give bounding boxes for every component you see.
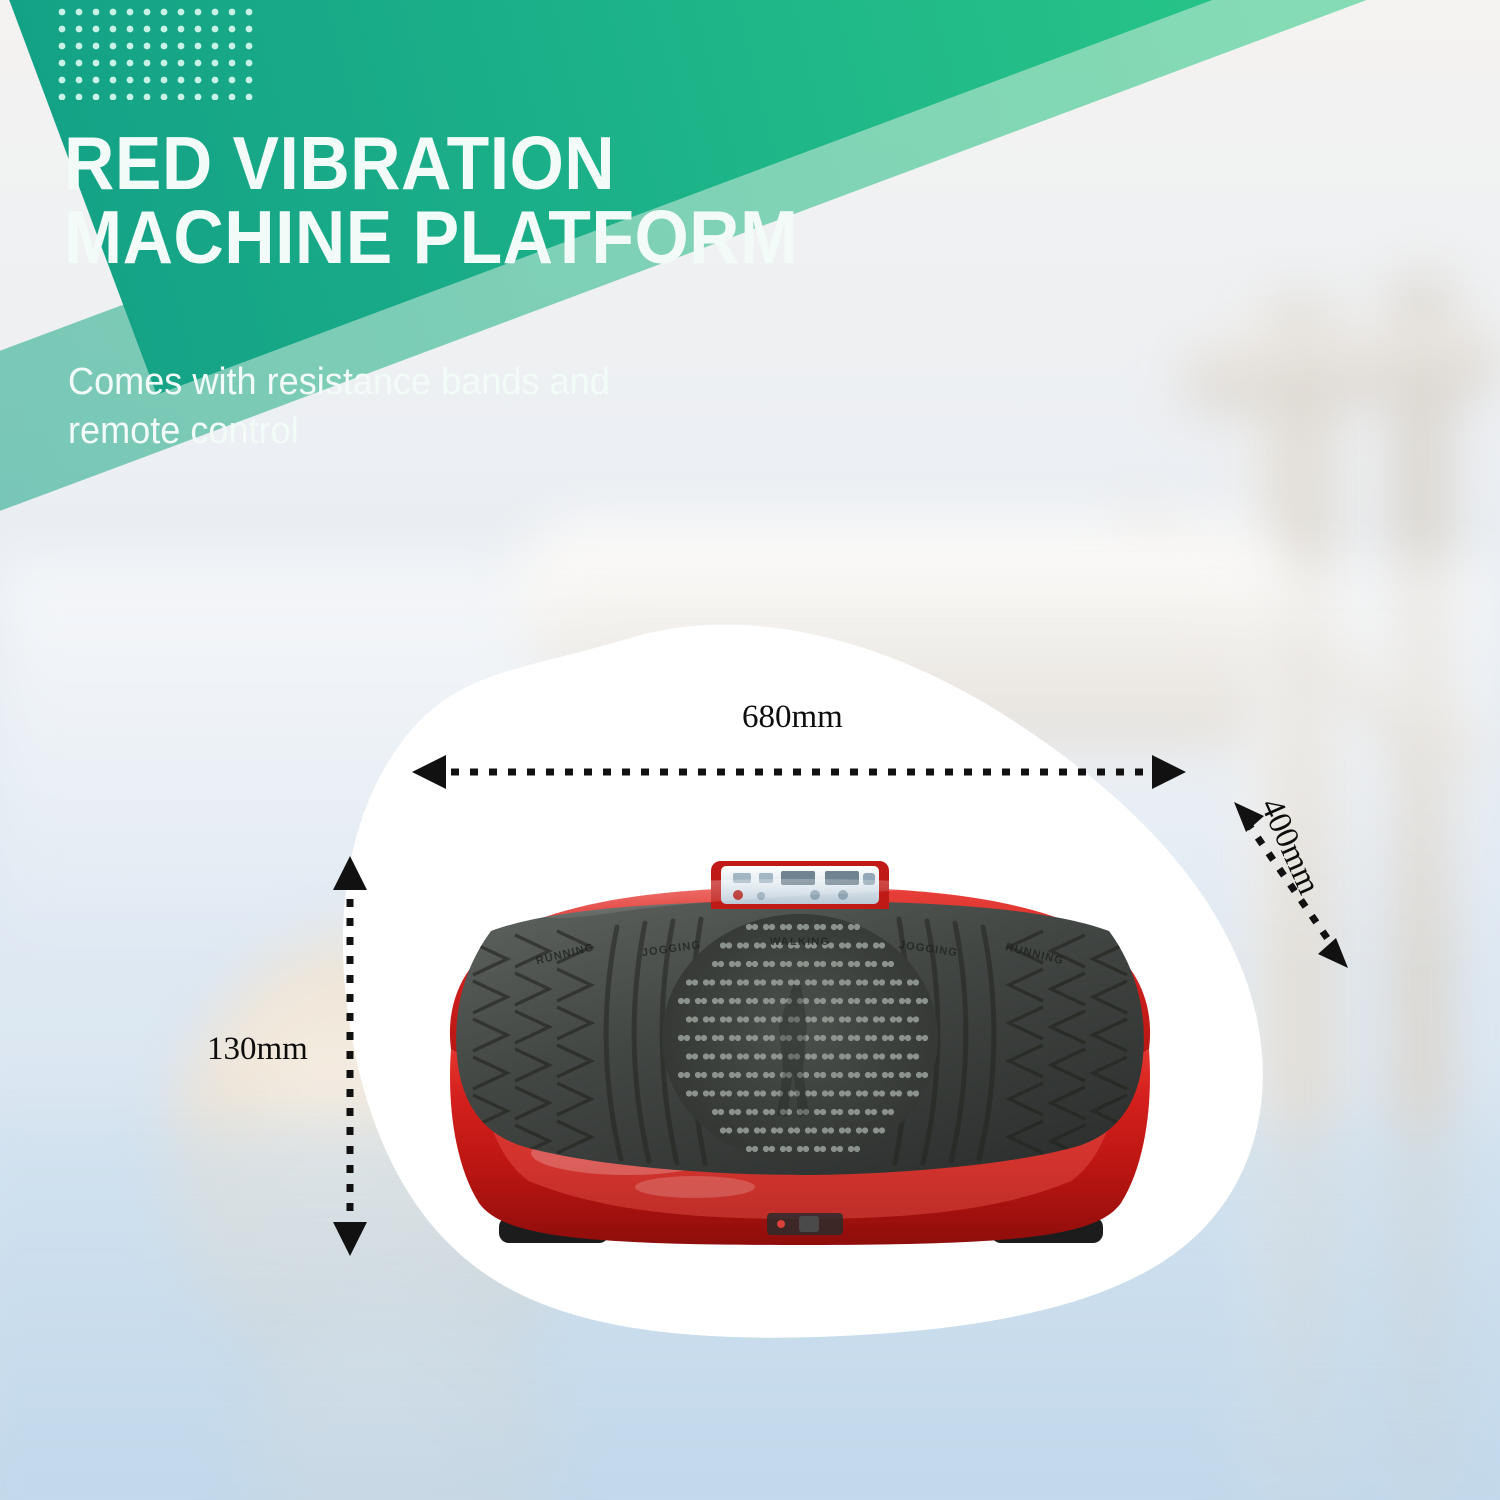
title-line-2: MACHINE PLATFORM	[64, 200, 1050, 274]
dimension-label-width: 680mm	[742, 699, 843, 736]
svg-text:WALKING: WALKING	[770, 936, 830, 948]
infographic-canvas: RED VIBRATION MACHINE PLATFORM Comes wit…	[0, 0, 1500, 1500]
product-indicator	[767, 1213, 843, 1235]
subtitle-line-2: remote control	[68, 407, 790, 456]
subtitle-line-1: Comes with resistance bands and	[68, 358, 790, 407]
page-title: RED VIBRATION MACHINE PLATFORM	[64, 126, 1124, 275]
dot-grid-icon	[58, 8, 254, 100]
page-subtitle: Comes with resistance bands and remote c…	[68, 358, 828, 457]
title-line-1: RED VIBRATION	[64, 126, 1050, 200]
dimension-label-height: 130mm	[207, 1031, 308, 1068]
product-image-vibration-platform: RUNNINGJOGGINGWALKINGJOGGINGRUNNING	[395, 835, 1205, 1275]
